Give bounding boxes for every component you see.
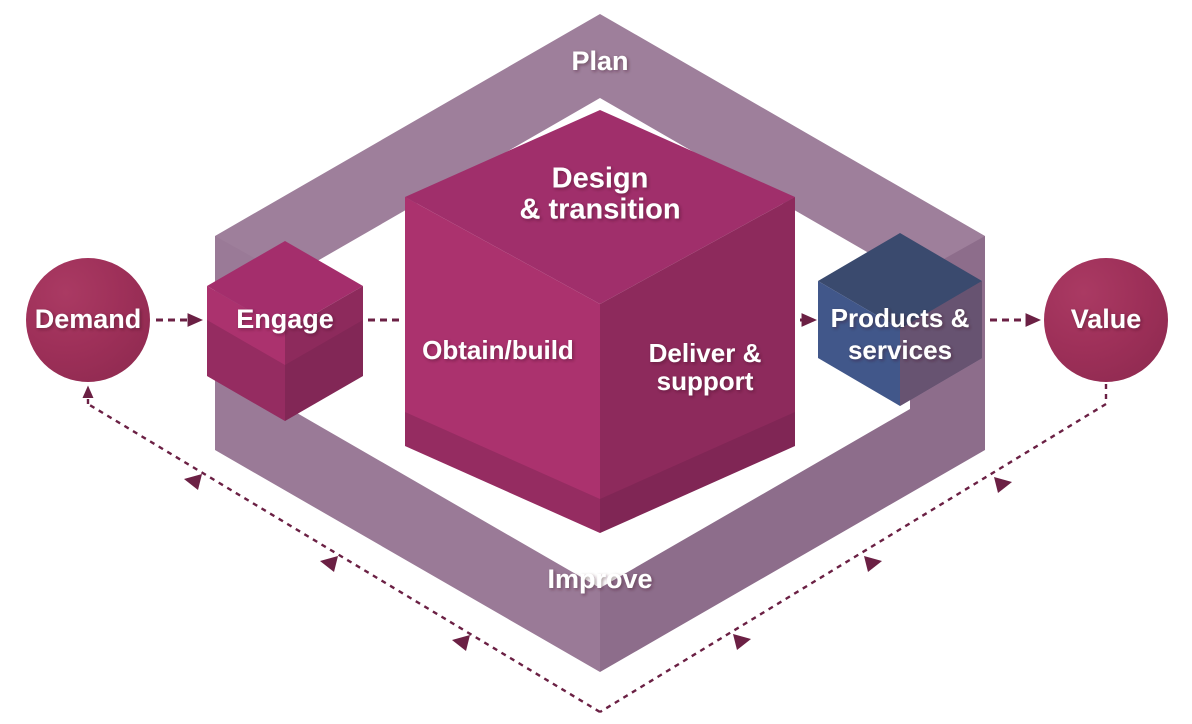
frame-label-plan: Plan: [571, 46, 628, 76]
engage-label: Engage: [236, 304, 334, 334]
products-services-label-line1: Products &: [831, 303, 970, 333]
diagram-canvas: Plan Engage Products & services: [0, 0, 1192, 724]
design-transition-label-line2: & transition: [519, 194, 680, 226]
frame-label-improve: Improve: [547, 564, 652, 594]
feedback-arrowhead-r2: [864, 556, 882, 572]
deliver-support-label-line1: Deliver &: [649, 338, 762, 368]
deliver-support-label-line2: support: [657, 366, 754, 396]
feedback-arrowhead-r1: [994, 477, 1012, 493]
products-services-label-line2: services: [848, 335, 952, 365]
design-transition-label-line1: Design: [552, 163, 649, 195]
demand-label: Demand: [35, 304, 142, 334]
obtain-build-label: Obtain/build: [422, 335, 574, 365]
feedback-arrowhead-l1: [184, 474, 202, 490]
feedback-arrowhead-r3: [733, 634, 751, 650]
feedback-arrowhead-l3: [452, 635, 470, 651]
value-label: Value: [1071, 304, 1142, 334]
service-value-chain-diagram: Plan Engage Products & services: [0, 0, 1192, 724]
